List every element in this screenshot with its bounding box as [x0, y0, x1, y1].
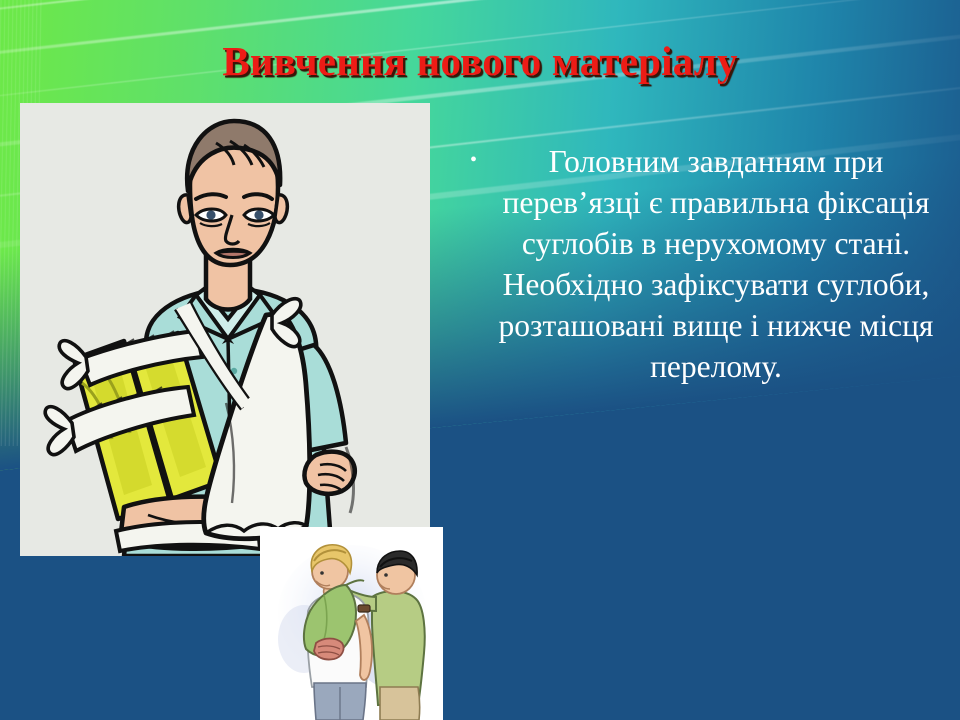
content-text-block: • Головним завданням при перев’язці є пр…: [470, 142, 940, 388]
bullet-item-text: Головним завданням при перев’язці є прав…: [492, 142, 940, 388]
first-aid-applying-green-sling-illustration: [260, 527, 443, 720]
boy-with-arm-sling-and-splint-illustration: [20, 103, 430, 556]
slide-title: Вивчення нового матеріалу: [0, 40, 960, 83]
bullet-list-item: • Головним завданням при перев’язці є пр…: [470, 142, 940, 388]
bullet-point-icon: •: [470, 142, 492, 160]
presentation-slide: Вивчення нового матеріалу: [0, 0, 960, 720]
